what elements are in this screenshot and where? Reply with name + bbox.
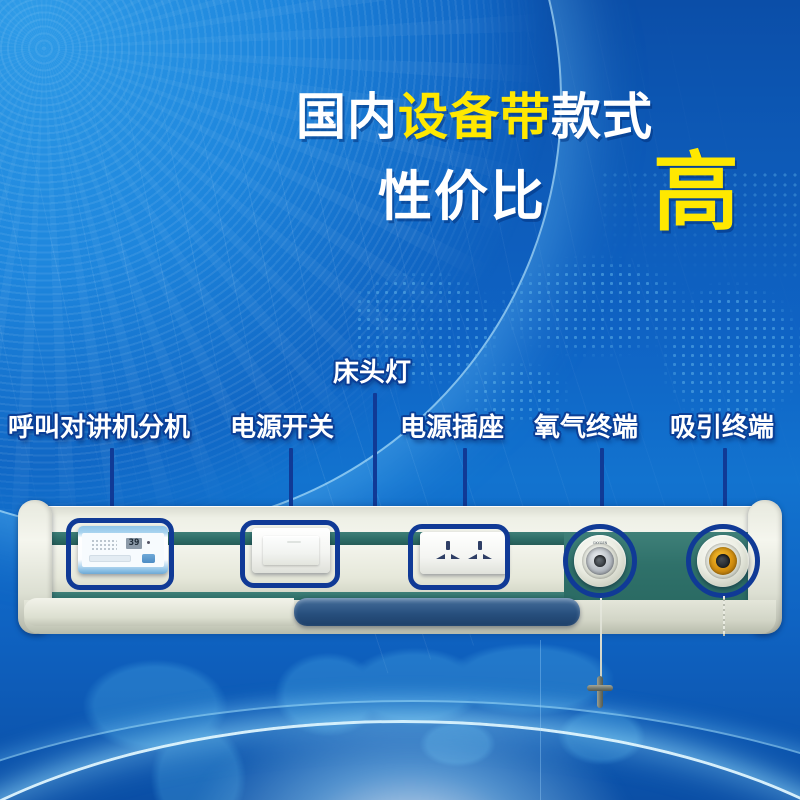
callout-label-oxygen: 氧气终端 (534, 415, 638, 441)
callout-label-socket: 电源插座 (400, 415, 504, 441)
headline-big-word: 高 (653, 150, 739, 236)
highlight-circle-suction (686, 524, 760, 598)
headline-line-2: 性价比 (378, 170, 546, 224)
headline-seg-2: 设备带 (398, 88, 551, 146)
callout-label-intercom: 呼叫对讲机分机 (8, 415, 190, 441)
headline-seg-1: 国内 (296, 88, 398, 146)
bottom-glow (180, 700, 640, 800)
promo-image: 国内设备带款式 性价比 高 呼叫对讲机分机 电源开关 床头灯 电源插座 氧气终端… (0, 0, 800, 800)
hook-shaft (597, 676, 603, 708)
vertical-guide-line (540, 640, 541, 800)
callout-label-switch: 电源开关 (230, 415, 334, 441)
highlight-box-intercom (66, 518, 174, 590)
callout-label-bedlamp: 床头灯 (333, 360, 411, 386)
panel-rail-light-section (24, 598, 294, 626)
highlight-box-switch (240, 520, 340, 588)
highlight-circle-oxygen (563, 524, 637, 598)
suction-hose-cord (723, 596, 725, 636)
panel-rail-blue-section (294, 598, 580, 626)
hook-crossbar (587, 685, 613, 691)
highlight-box-socket (408, 524, 510, 590)
headline-seg-3: 款式 (551, 88, 653, 146)
callout-label-suction: 吸引终端 (670, 415, 774, 441)
headline-line-1: 国内设备带款式 (296, 92, 653, 142)
headline-block: 国内设备带款式 性价比 高 (0, 0, 800, 250)
cord-hook-icon (587, 676, 613, 708)
